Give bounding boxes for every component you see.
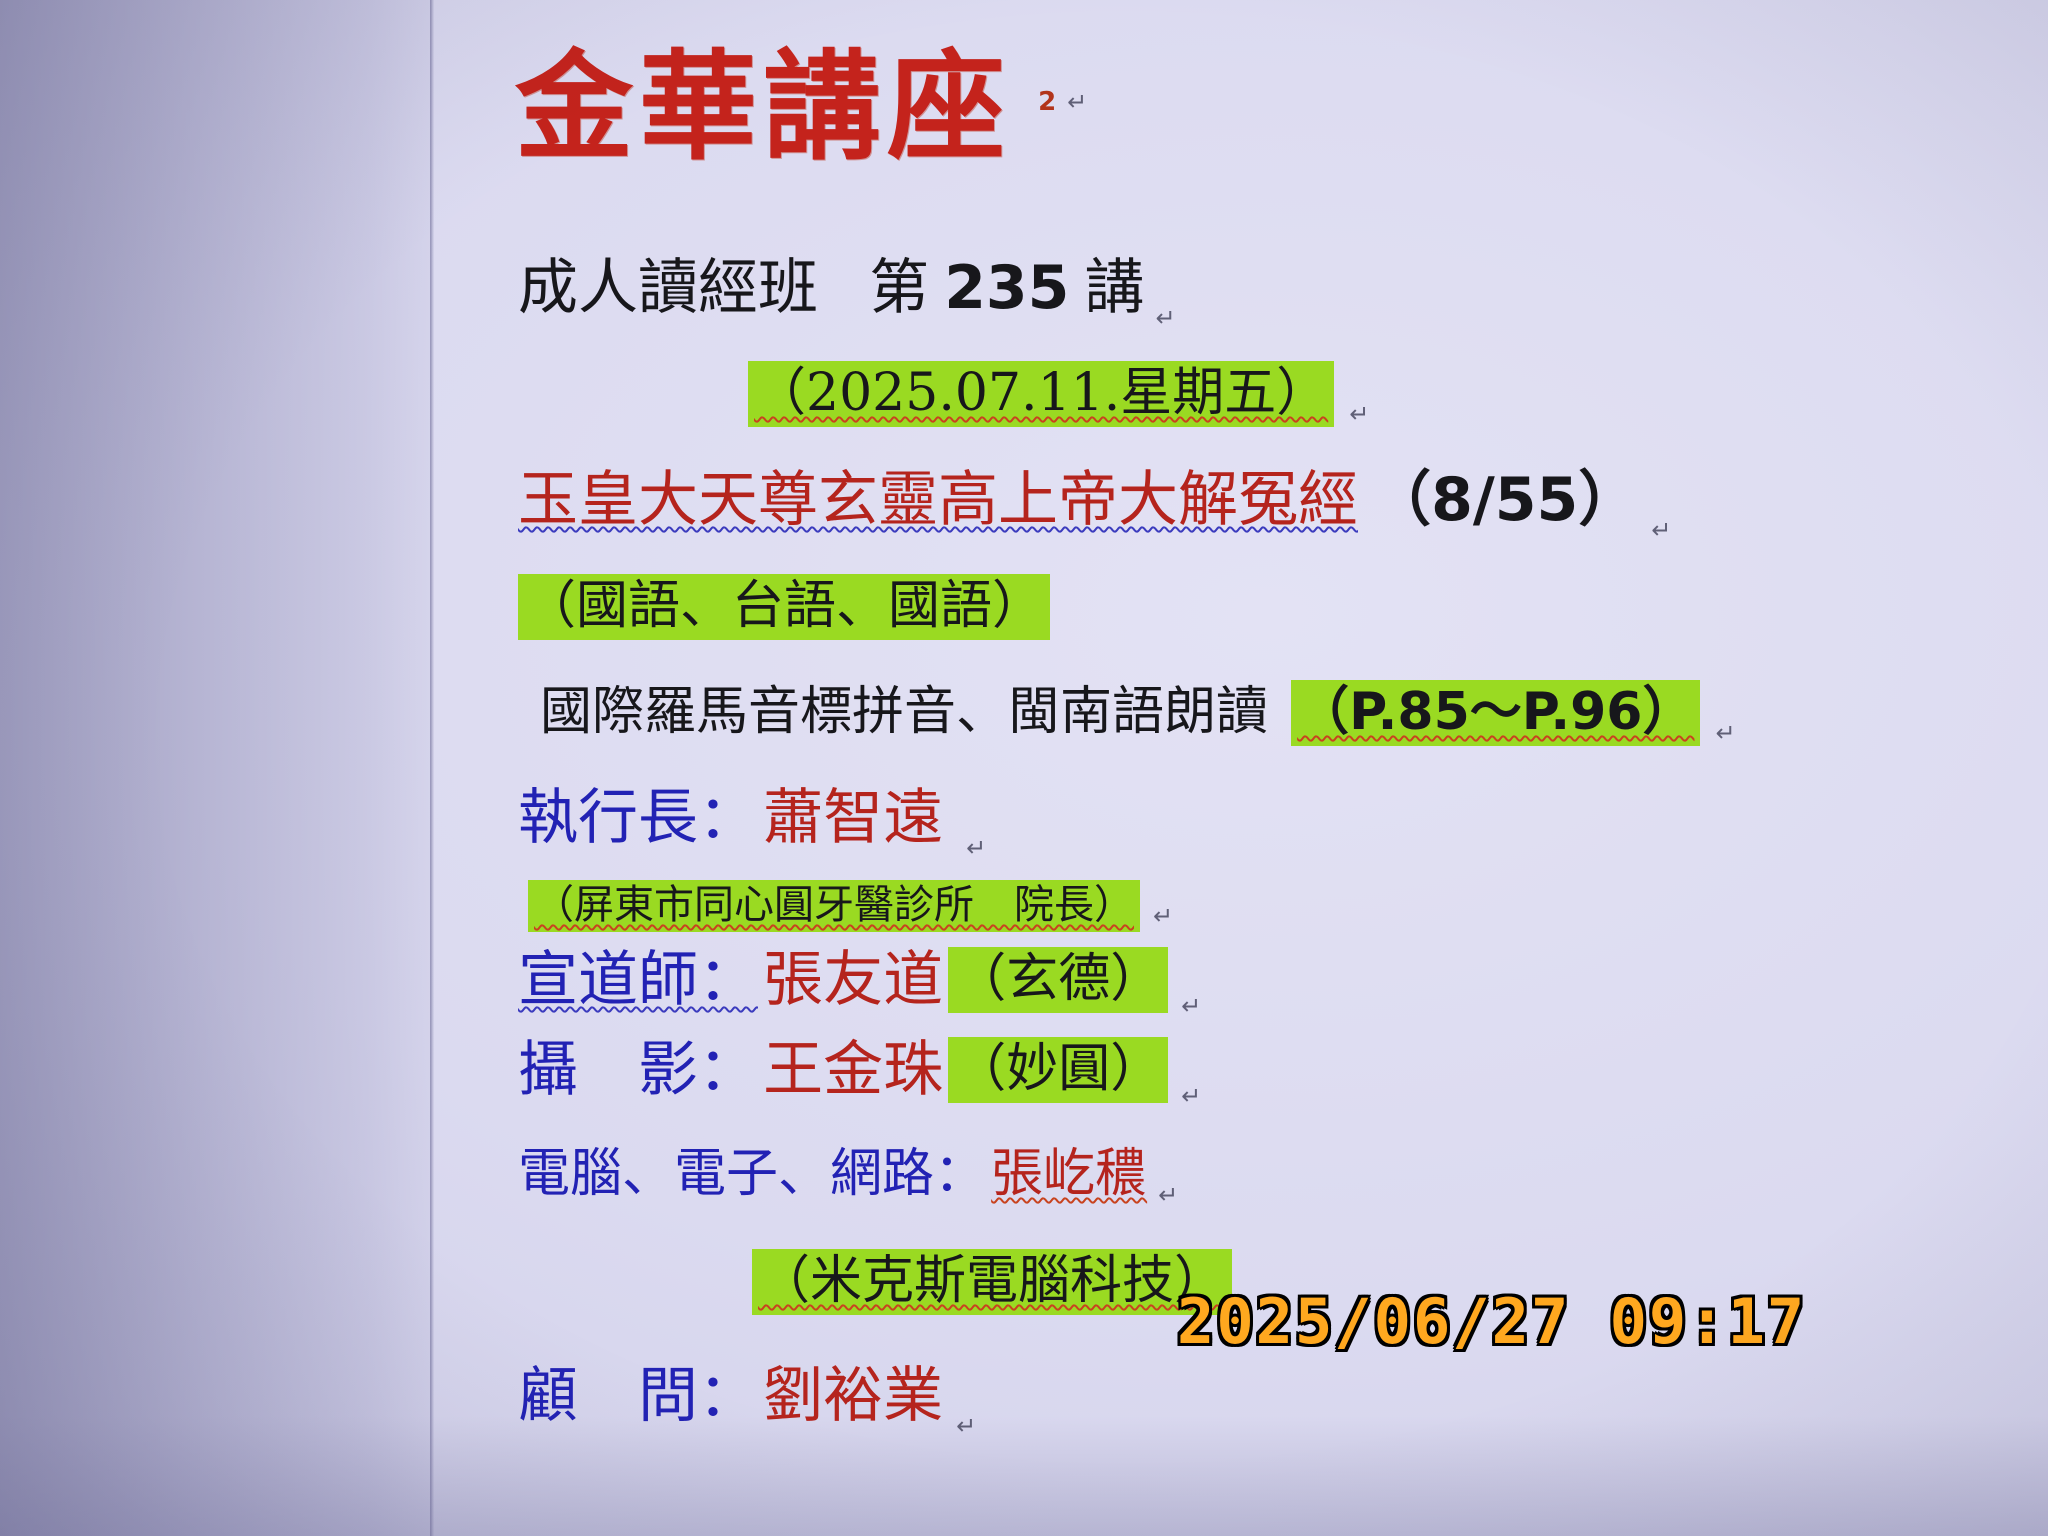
photo-of-projected-slide: 金華講座 2 ↵ 成人讀經班 第 235 講 ↵ （2025.07.11.星期五…: [0, 0, 2048, 1536]
advisor-row: 顧 問： 劉裕業 ↵: [518, 1366, 968, 1426]
photographer-dharma-name: （妙圓）: [948, 1037, 1168, 1103]
executive-affiliation-row: （屏東市同心圓牙醫診所 院長） ↵: [528, 885, 1165, 925]
tech-support-name: 張屹穠: [991, 1144, 1147, 1204]
advisor-label: 顧 問：: [518, 1361, 758, 1431]
preacher-label: 宣道師：: [518, 945, 758, 1015]
pilcrow-mark: ↵: [956, 1412, 976, 1440]
languages-row: （國語、台語、國語）: [518, 580, 1050, 632]
pilcrow-mark: ↵: [966, 834, 986, 862]
advisor-name: 劉裕業: [763, 1361, 943, 1431]
scripture-progress: （8/55）: [1363, 465, 1638, 535]
pilcrow-mark: ↵: [1349, 400, 1369, 428]
scripture-title: 玉皇大天尊玄靈高上帝大解冤經: [518, 465, 1358, 535]
preacher-row: 宣道師： 張友道 （玄德） ↵: [518, 950, 1193, 1010]
photography-label: 攝 影：: [518, 1035, 758, 1105]
pilcrow-mark: ↵: [1181, 1082, 1201, 1110]
scripture-title-row: 玉皇大天尊玄靈高上帝大解冤經 （8/55） ↵: [518, 470, 1663, 530]
tech-support-label: 電腦、電子、網路：: [518, 1144, 986, 1204]
photography-row: 攝 影： 王金珠 （妙圓） ↵: [518, 1040, 1193, 1100]
tech-company-row: （米克斯電腦科技）: [752, 1255, 1232, 1307]
executive-affiliation: （屏東市同心圓牙醫診所 院長）: [528, 880, 1140, 932]
tech-support-row: 電腦、電子、網路： 張屹穠 ↵: [518, 1148, 1172, 1200]
left-wall-shadow: [0, 0, 432, 1536]
session-number: 235: [934, 253, 1079, 323]
pilcrow-mark: ↵: [1651, 516, 1671, 544]
pilcrow-mark: ↵: [1716, 719, 1736, 747]
class-label: 成人讀經班: [518, 253, 818, 323]
photographer-name: 王金珠: [763, 1035, 943, 1105]
tech-company-name: （米克斯電腦科技）: [752, 1249, 1232, 1315]
page-range: （P.85～P.96）: [1291, 680, 1700, 746]
pilcrow-mark: ↵: [1181, 992, 1201, 1020]
slide-title-row: 金華講座 2 ↵: [515, 48, 1059, 166]
date-row: （2025.07.11.星期五） ↵: [748, 367, 1359, 419]
preacher-name: 張友道: [763, 945, 943, 1015]
reading-method-label: 國際羅馬音標拼音、閩南語朗讀: [540, 682, 1268, 742]
executive-director-row: 執行長： 蕭智遠 ↵: [518, 788, 968, 848]
preacher-dharma-name: （玄德）: [948, 947, 1168, 1013]
pilcrow-mark: ↵: [1067, 88, 1087, 116]
executive-director-name: 蕭智遠: [763, 783, 943, 853]
reading-method-row: 國際羅馬音標拼音、閩南語朗讀 （P.85～P.96） ↵: [540, 686, 1726, 738]
pilcrow-mark: ↵: [1156, 304, 1176, 332]
languages-label: （國語、台語、國語）: [518, 574, 1050, 640]
executive-director-label: 執行長：: [518, 783, 758, 853]
camera-timestamp: 2025/06/27 09:17: [1177, 1285, 1806, 1358]
page-title: 金華講座: [515, 37, 1011, 176]
session-prefix: 第: [823, 253, 929, 323]
pilcrow-mark: ↵: [1153, 902, 1173, 930]
session-date: （2025.07.11.星期五）: [748, 361, 1334, 427]
pilcrow-mark: ↵: [1158, 1181, 1178, 1209]
title-superscript: 2: [1038, 87, 1056, 117]
class-session-row: 成人讀經班 第 235 講 ↵: [518, 258, 1170, 318]
session-suffix: 講: [1085, 253, 1145, 323]
